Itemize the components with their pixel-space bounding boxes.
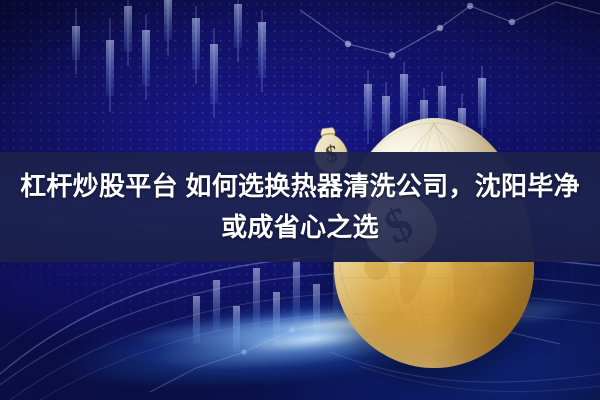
banner-image: $ $ 杠杆炒股平台 如何选换热器清洗公司，沈阳毕净 或成省心之选 (0, 0, 600, 400)
headline-text-block: 杠杆炒股平台 如何选换热器清洗公司，沈阳毕净 或成省心之选 (0, 152, 600, 262)
headline-line-2: 或成省心之选 (221, 209, 379, 246)
headline-line-1: 杠杆炒股平台 如何选换热器清洗公司，沈阳毕净 (20, 168, 580, 205)
